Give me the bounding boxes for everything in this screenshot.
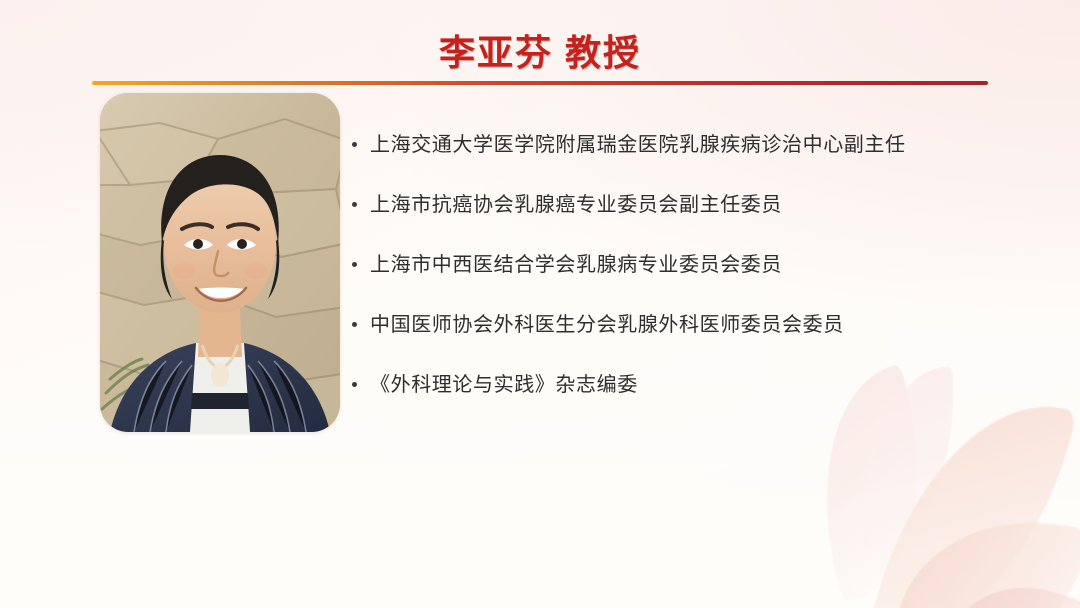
list-item: 《外科理论与实践》杂志编委 — [352, 373, 1032, 433]
bullet-dot-icon — [352, 322, 370, 327]
bullet-dot-icon — [352, 142, 370, 147]
portrait-illustration — [100, 93, 340, 432]
bullet-dot-icon — [352, 262, 370, 267]
list-item: 上海市抗癌协会乳腺癌专业委员会副主任委员 — [352, 193, 1032, 253]
credential-text: 上海交通大学医学院附属瑞金医院乳腺疾病诊治中心副主任 — [370, 133, 906, 157]
list-item: 上海交通大学医学院附属瑞金医院乳腺疾病诊治中心副主任 — [352, 133, 1032, 193]
credential-text: 中国医师协会外科医生分会乳腺外科医师委员会委员 — [370, 313, 844, 337]
list-item: 中国医师协会外科医生分会乳腺外科医师委员会委员 — [352, 313, 1032, 373]
portrait-photo — [100, 93, 340, 432]
bullet-dot-icon — [352, 202, 370, 207]
slide-root: 李亚芬 教授 — [0, 0, 1080, 608]
bullet-dot-icon — [352, 382, 370, 387]
credential-text: 上海市抗癌协会乳腺癌专业委员会副主任委员 — [370, 193, 782, 217]
credential-text: 上海市中西医结合学会乳腺病专业委员会委员 — [370, 253, 782, 277]
list-item: 上海市中西医结合学会乳腺病专业委员会委员 — [352, 253, 1032, 313]
credentials-list: 上海交通大学医学院附属瑞金医院乳腺疾病诊治中心副主任 上海市抗癌协会乳腺癌专业委… — [352, 133, 1032, 433]
credential-text: 《外科理论与实践》杂志编委 — [370, 373, 638, 397]
page-title: 李亚芬 教授 — [0, 24, 1080, 76]
title-divider — [92, 81, 988, 85]
